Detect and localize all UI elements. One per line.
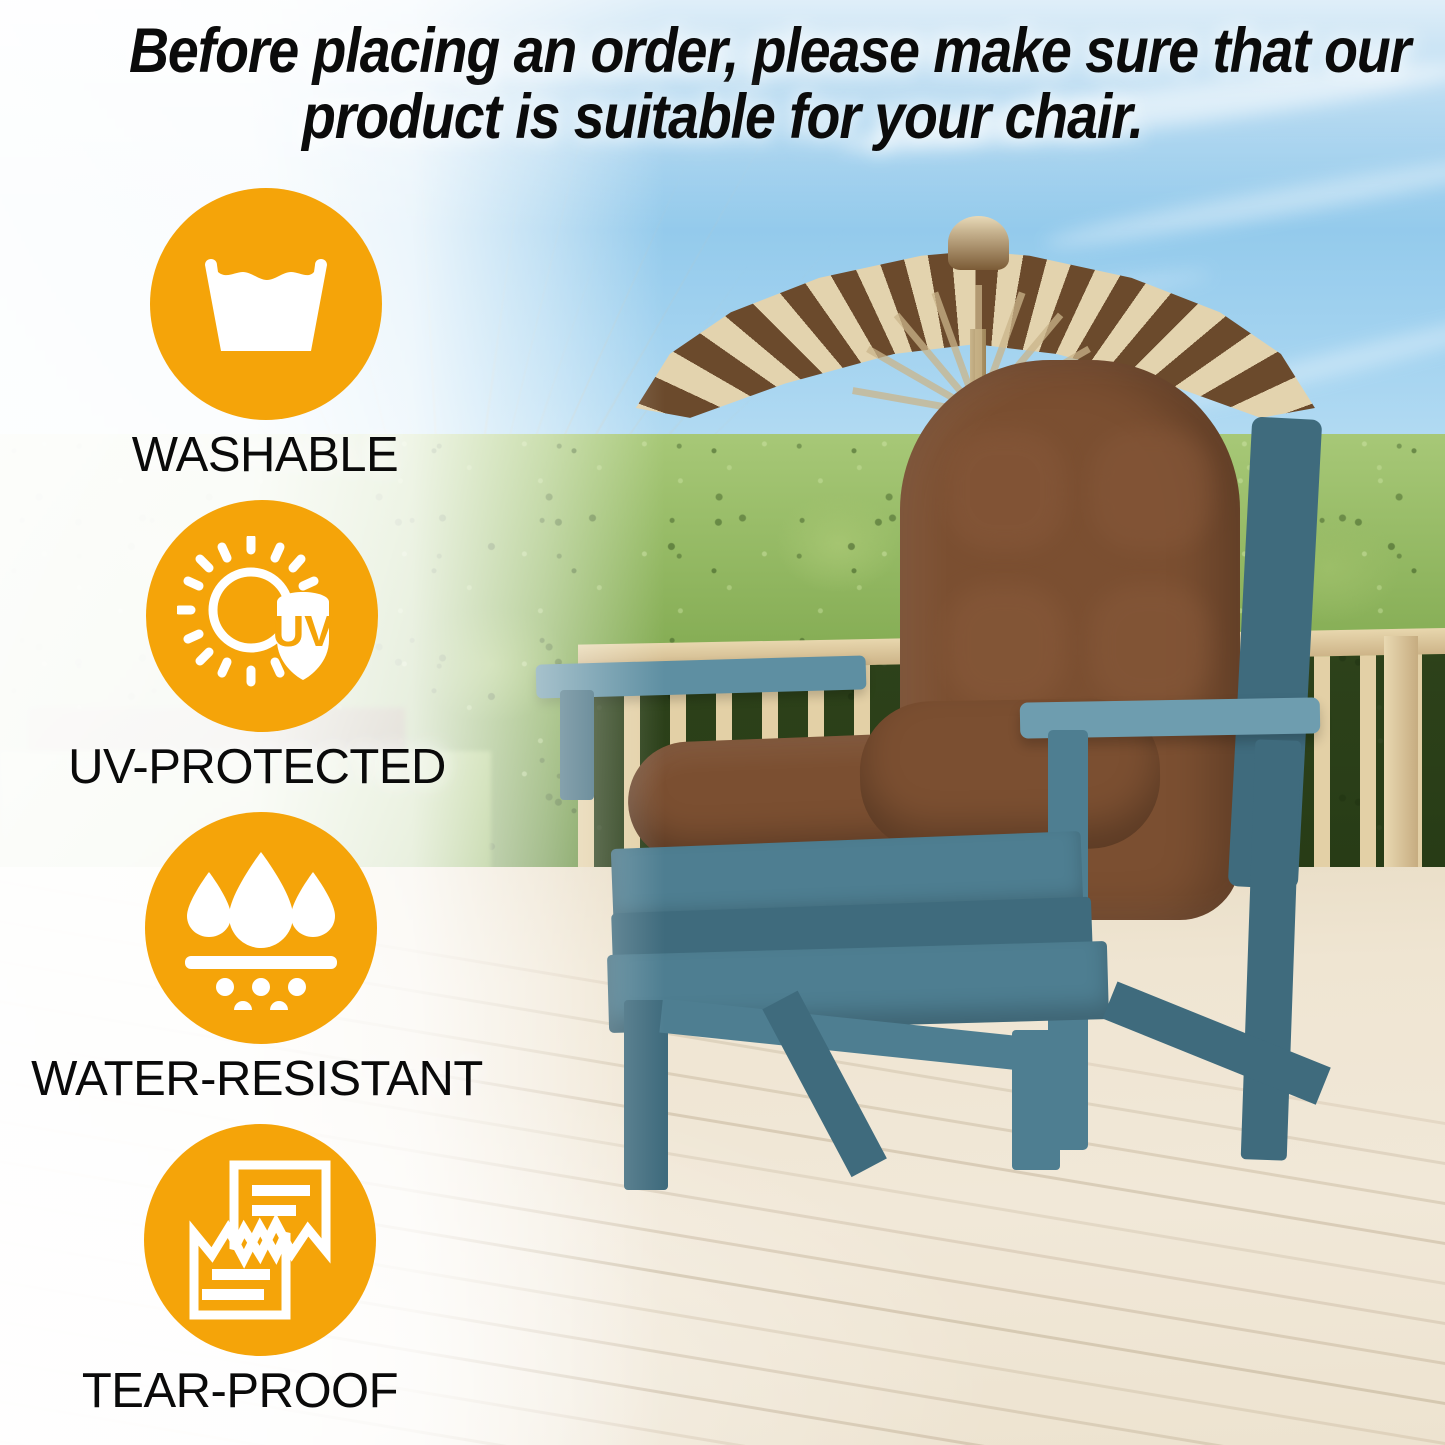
washable-icon-circle [150,188,382,420]
headline-line-2: product is suitable for your chair. [129,84,1316,150]
water-resistant-icon-circle [145,812,377,1044]
feature-label-tear-proof: TEAR-PROOF [82,1362,398,1420]
headline-line-1: Before placing an order, please make sur… [129,18,1316,84]
feature-label-washable: WASHABLE [132,426,398,484]
uv-protected-icon-circle: UV [146,500,378,732]
cushion-tuft [945,585,1065,705]
cushion-tuft [945,430,1065,550]
headline: Before placing an order, please make sur… [0,18,1445,150]
tear-proof-icon-circle [144,1124,376,1356]
water-resistant-icon [177,846,345,1010]
feature-badge-washable: WASHABLE [0,188,516,484]
chair-rear-brace [1103,981,1331,1104]
feature-badge-tear-proof: TEAR-PROOF [0,1124,516,1420]
uv-icon-text: UV [272,607,334,656]
feature-badge-water-resistant: WATER-RESISTANT [0,812,516,1108]
tear-proof-icon [180,1159,340,1321]
cushion-tuft [1090,430,1210,550]
washable-icon [191,239,341,369]
feature-label-water-resistant: WATER-RESISTANT [31,1050,483,1108]
feature-badge-list: WASHABLE [0,188,516,1420]
product-infographic: Before placing an order, please make sur… [0,0,1445,1445]
cushion-tuft [1090,585,1210,705]
feature-badge-uv-protected: UV UV-PROTECTED [0,500,516,796]
feature-label-uv-protected: UV-PROTECTED [68,738,446,796]
uv-protected-icon: UV [177,536,347,696]
chair-rear-leg [1012,1030,1060,1170]
